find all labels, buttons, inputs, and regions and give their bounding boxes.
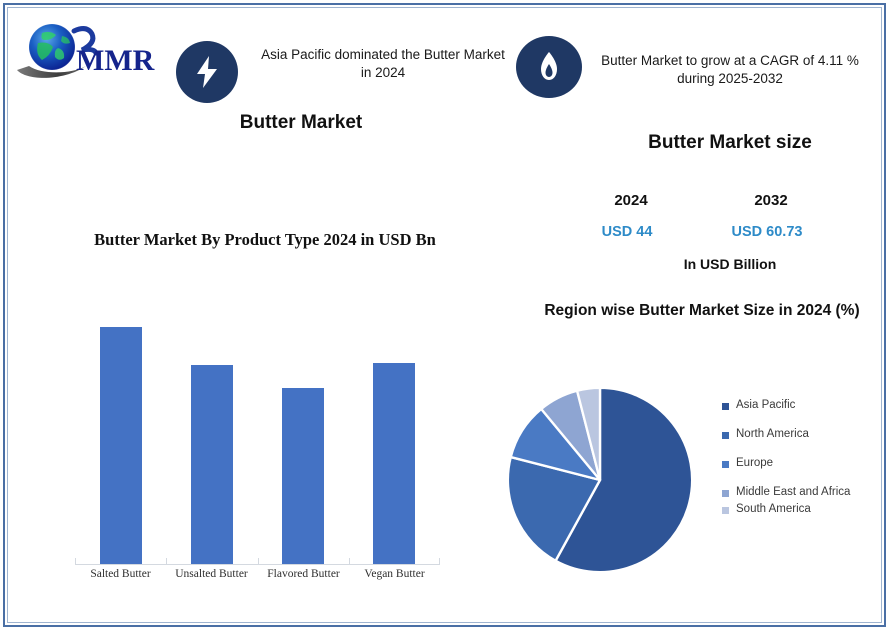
left-callout-text: Asia Pacific dominated the Butter Market… <box>258 46 508 82</box>
legend-label: South America <box>736 502 811 517</box>
market-size-value-end: USD 60.73 <box>712 224 822 240</box>
right-callout-text: Butter Market to grow at a CAGR of 4.11 … <box>600 52 860 88</box>
pie-legend-item[interactable]: Asia Pacific <box>722 398 882 413</box>
market-size-unit-note: In USD Billion <box>600 256 860 272</box>
legend-label: Asia Pacific <box>736 398 795 413</box>
bar-plot-area <box>75 300 440 565</box>
bar-chart-title: Butter Market By Product Type 2024 in US… <box>70 228 460 252</box>
pie-legend-item[interactable]: Middle East and Africa <box>722 485 882 500</box>
pie-legend: Asia PacificNorth AmericaEuropeMiddle Ea… <box>722 398 882 531</box>
lightning-bolt-badge <box>176 41 238 103</box>
infographic-page: MMR Asia Pacific dominated the Butter Ma… <box>0 0 889 630</box>
legend-swatch-icon <box>722 432 729 439</box>
bar-chart <box>75 300 440 570</box>
legend-swatch-icon <box>722 403 729 410</box>
region-chart-title: Region wise Butter Market Size in 2024 (… <box>522 300 882 322</box>
bar-column <box>282 388 324 564</box>
mmr-logo: MMR <box>14 18 164 80</box>
market-size-year-start: 2024 <box>576 192 686 209</box>
legend-label: Europe <box>736 456 773 471</box>
legend-label: Middle East and Africa <box>736 485 850 500</box>
logo-wordmark: MMR <box>76 44 155 77</box>
pie-legend-item[interactable]: Europe <box>722 456 882 471</box>
pie-legend-item[interactable]: North America <box>722 427 882 442</box>
legend-swatch-icon <box>722 461 729 468</box>
legend-label: North America <box>736 427 809 442</box>
bar-axis-tick <box>166 558 167 565</box>
bar-x-label: Vegan Butter <box>349 568 440 580</box>
bar-axis-tick <box>349 558 350 565</box>
legend-swatch-icon <box>722 507 729 514</box>
bar-axis-tick <box>75 558 76 565</box>
market-size-year-end: 2032 <box>716 192 826 209</box>
legend-swatch-icon <box>722 490 729 497</box>
bar-x-label: Salted Butter <box>75 568 166 580</box>
market-size-value-start: USD 44 <box>572 224 682 240</box>
flame-droplet-icon <box>537 51 561 83</box>
bar-column <box>100 327 142 564</box>
pie-legend-item[interactable]: South America <box>722 502 882 517</box>
bar-column <box>373 363 415 564</box>
bar-axis-tick <box>439 558 440 565</box>
bar-x-label: Flavored Butter <box>258 568 349 580</box>
lightning-bolt-icon <box>194 55 220 89</box>
bar-axis-tick <box>258 558 259 565</box>
bar-x-axis-labels: Salted ButterUnsalted ButterFlavored But… <box>75 568 440 590</box>
page-title: Butter Market <box>176 112 426 134</box>
flame-droplet-badge <box>516 36 582 98</box>
bar-x-label: Unsalted Butter <box>166 568 257 580</box>
market-size-title: Butter Market size <box>600 132 860 154</box>
region-pie-chart <box>505 385 695 575</box>
bar-column <box>191 365 233 564</box>
